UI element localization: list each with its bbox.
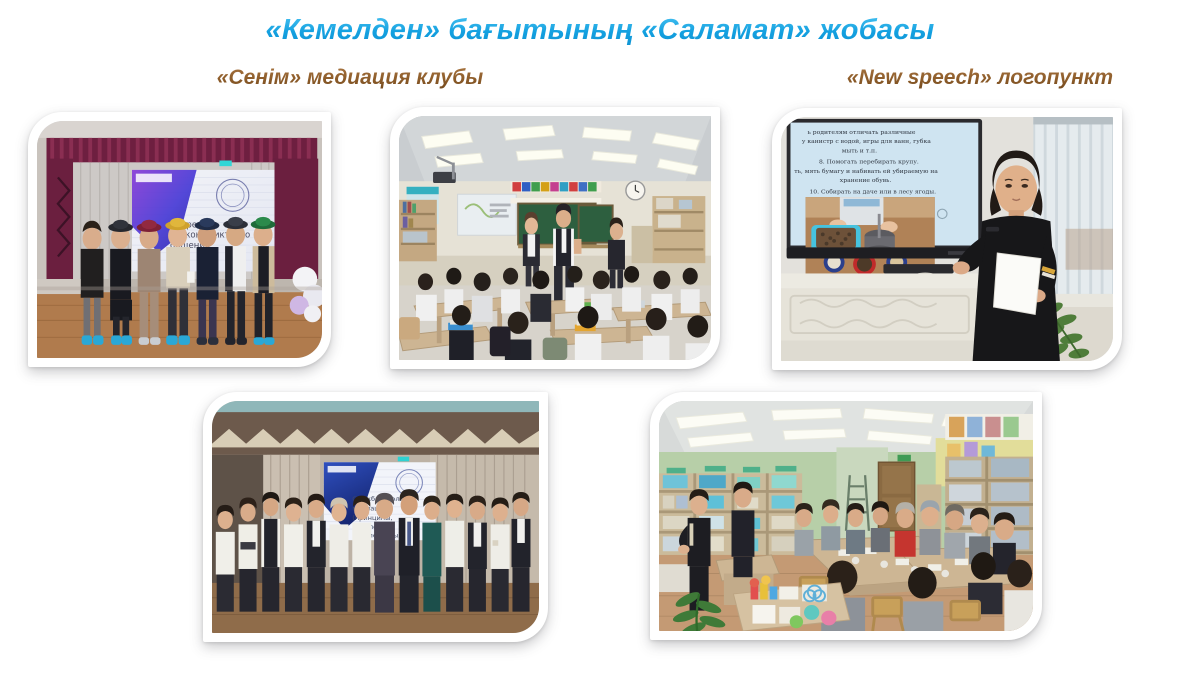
svg-text:хранение обувь.: хранение обувь. [840, 177, 892, 184]
photo-speech-therapist-presentation: ь родителям отличать различные у канистр… [781, 117, 1113, 361]
svg-text:ь родителям отличать различные: ь родителям отличать различные [808, 129, 916, 136]
svg-text:8. Помогать перебирать крупу.: 8. Помогать перебирать крупу. [819, 159, 919, 166]
photo-mediation-club-stage: Секреты бесконфликтного общения [37, 121, 322, 358]
photo-card-mediation-club-stage[interactable]: Секреты бесконфликтного общения [28, 112, 331, 367]
svg-text:ть, мять бумагу и набивать ей: ть, мять бумагу и набивать ей убираемую … [794, 168, 938, 175]
svg-text:мыть и т.п.: мыть и т.п. [842, 147, 877, 154]
photo-card-library-seminar[interactable] [650, 392, 1042, 640]
right-column-subtitle: «New speech» логопункт [790, 66, 1170, 90]
photo-card-group-mediation-service[interactable]: Служба школьной медиации (принципы, проб… [203, 392, 548, 642]
photo-library-seminar [659, 401, 1033, 631]
svg-text:у канистр с водой, игры для ва: у канистр с водой, игры для ванн, губка [802, 138, 931, 145]
photo-card-speech-therapist-presentation[interactable]: ь родителям отличать различные у канистр… [772, 108, 1122, 370]
photo-classroom-lesson [399, 116, 711, 360]
photo-card-classroom-lesson[interactable] [390, 107, 720, 369]
svg-text:10. Собирать на даче или в лес: 10. Собирать на даче или в лесу ягоды. [809, 188, 936, 195]
left-column-subtitle: «Сенім» медиация клубы [150, 66, 550, 90]
page-title: «Кемелден» бағытының «Саламат» жобасы [0, 14, 1200, 47]
photo-group-mediation-service: Служба школьной медиации (принципы, проб… [212, 401, 539, 633]
